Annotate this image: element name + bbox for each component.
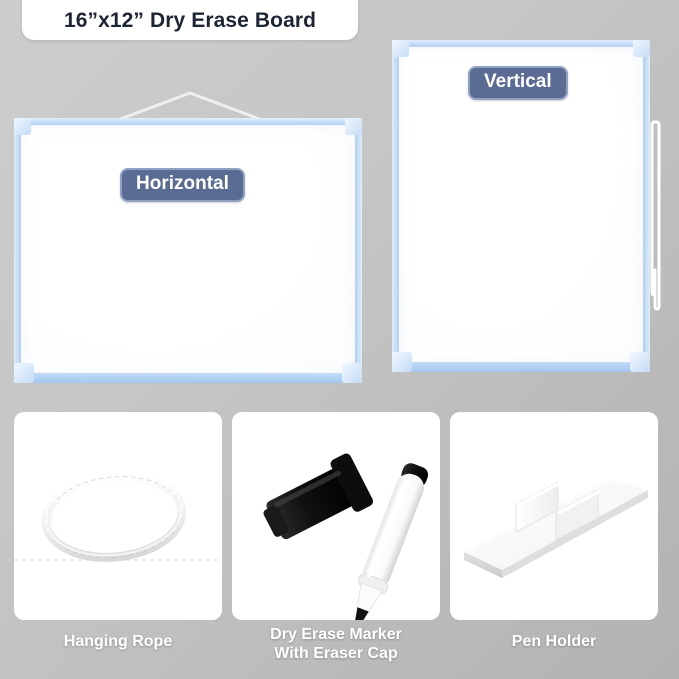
frame-corner-top-left (14, 118, 31, 135)
frame-rail-bottom (392, 362, 650, 372)
caption-dry-erase-marker: Dry Erase Marker With Eraser Cap (232, 625, 440, 663)
frame-corner-bottom-right (342, 363, 362, 383)
caption-hanging-rope: Hanging Rope (14, 632, 222, 651)
caption-pen-holder: Pen Holder (450, 632, 658, 651)
orientation-badge-vertical: Vertical (468, 66, 568, 100)
whiteboard-horizontal (14, 118, 362, 383)
pen-holder-icon (450, 412, 658, 620)
frame-rail-left (14, 118, 21, 383)
frame-rail-bottom (14, 373, 362, 383)
orientation-badge-horizontal: Horizontal (120, 168, 245, 202)
page-title: 16”x12” Dry Erase Board (64, 9, 316, 33)
frame-corner-top-left (392, 40, 409, 57)
product-title-banner: 16”x12” Dry Erase Board (22, 0, 358, 40)
accessory-card-dry-erase-marker (232, 412, 440, 620)
frame-rail-left (392, 40, 399, 372)
accessory-card-pen-holder (450, 412, 658, 620)
frame-corner-top-right (633, 40, 650, 57)
eraser-cap-icon (256, 452, 375, 551)
frame-rail-top (392, 40, 650, 47)
frame-corner-top-right (345, 118, 362, 135)
board-surface-horizontal (20, 124, 356, 377)
frame-corner-bottom-left (392, 352, 412, 372)
pen-holder-strip-icon (650, 120, 662, 312)
frame-rail-right (643, 40, 650, 372)
frame-rail-right (355, 118, 362, 383)
frame-rail-top (14, 118, 362, 125)
hanging-rope-icon (14, 412, 222, 620)
frame-corner-bottom-right (630, 352, 650, 372)
accessory-card-hanging-rope (14, 412, 222, 620)
frame-corner-bottom-left (14, 363, 34, 383)
